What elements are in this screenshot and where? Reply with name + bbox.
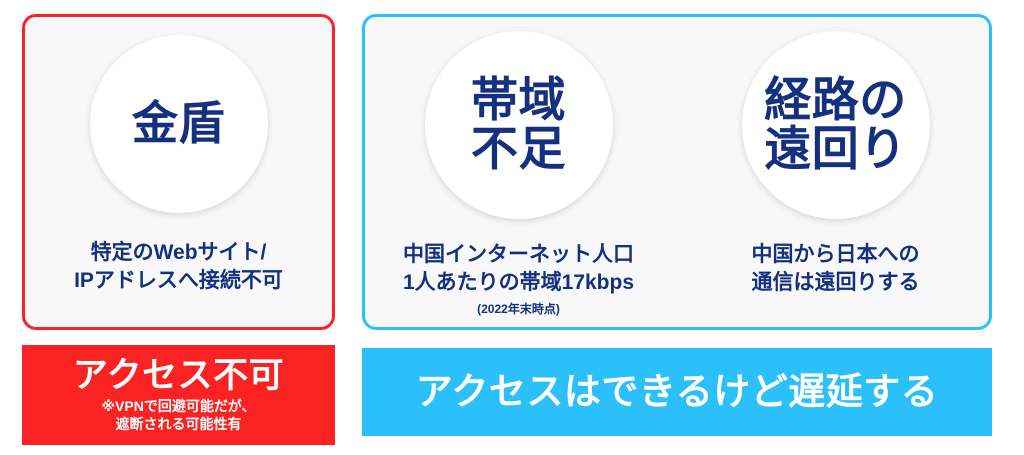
card-column-golden-shield: 金盾 特定のWebサイト/ IPアドレスへ接続不可 (25, 17, 332, 294)
card-column-routing: 経路の 遠回り 中国から日本への 通信は遠回りする (682, 17, 989, 296)
card-column-bandwidth: 帯域 不足 中国インターネット人口 1人あたりの帯域17kbps (2022年末… (365, 17, 672, 317)
card-access-blocked: 金盾 特定のWebサイト/ IPアドレスへ接続不可 (22, 14, 335, 330)
badge-label-golden-shield: 金盾 (132, 100, 225, 148)
banner-note-access-blocked: ※VPNで回避可能だが、 遮断される可能性有 (101, 397, 255, 433)
card-caption-note-bandwidth: (2022年末時点) (477, 300, 560, 317)
badge-label-routing: 経路の 遠回り (764, 76, 907, 174)
card-caption-bandwidth: 中国インターネット人口 1人あたりの帯域17kbps (403, 241, 634, 296)
card-caption-routing: 中国から日本への 通信は遠回りする (752, 241, 920, 296)
banner-title-access-blocked: アクセス不可 (73, 357, 284, 394)
badge-circle-routing: 経路の 遠回り (742, 31, 930, 219)
badge-circle-bandwidth: 帯域 不足 (425, 31, 613, 219)
badge-circle-golden-shield: 金盾 (90, 35, 268, 213)
infographic-root: 金盾 特定のWebサイト/ IPアドレスへ接続不可 帯域 不足 中国インターネッ… (0, 0, 1024, 455)
card-caption-golden-shield: 特定のWebサイト/ IPアドレスへ接続不可 (74, 239, 283, 294)
card-access-latency: 帯域 不足 中国インターネット人口 1人あたりの帯域17kbps (2022年末… (362, 14, 992, 330)
banner-title-access-latency: アクセスはできるけど遅延する (416, 372, 938, 413)
badge-label-bandwidth: 帯域 不足 (471, 76, 566, 174)
banner-access-latency: アクセスはできるけど遅延する (362, 348, 992, 436)
banner-access-blocked: アクセス不可 ※VPNで回避可能だが、 遮断される可能性有 (22, 345, 335, 445)
